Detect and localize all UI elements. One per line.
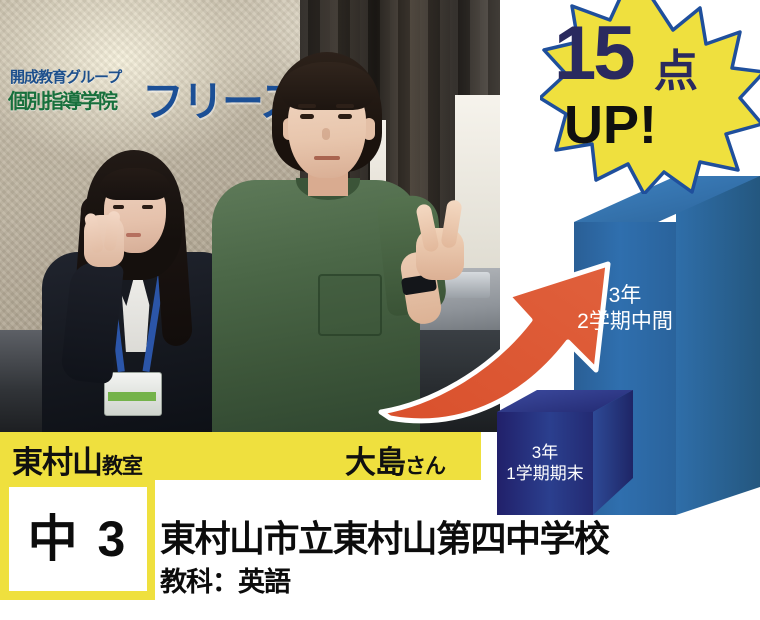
bar-label-term1: 3年 1学期期末 [497,443,593,484]
student-name: 大島 [345,445,405,480]
staff-id-badge-stripe [108,392,156,401]
bar-label-term2: 3年 2学期中間 [574,283,676,334]
student-nose [322,128,330,140]
classroom-label: 東村山教室 [12,437,142,482]
student-eyebrow-right [336,104,354,108]
score-up-badge [540,0,760,194]
signboard-group-name: 開成教育グループ [10,66,121,87]
grade-value: 中 3 [28,514,129,564]
subject-name: 教科：英語 [160,560,290,599]
school-signboard: 開成教育グループ 個別指導学院 フリーステップ [8,66,308,124]
classroom-suffix: 教室 [102,455,142,478]
student-photo: 開成教育グループ 個別指導学院 フリーステップ [0,0,500,432]
grade-badge: 中 3 [9,487,147,591]
promo-card: 開成教育グループ 個別指導学院 フリーステップ [0,0,760,620]
student-eyebrow-left [298,104,316,108]
staff-eye-right [142,205,153,209]
classroom-name: 東村山 [12,445,102,480]
student-tshirt-pocket [318,274,382,336]
student-eye-right [338,114,352,119]
student-eye-left [300,114,314,119]
staff-eye-left [113,205,124,209]
student-mouth [314,156,340,160]
student-bangs [280,62,376,110]
student-label: 大島さん [345,437,445,482]
student-name-suffix: さん [405,455,445,478]
staff-mouth [126,233,141,237]
staff-bangs [100,168,170,200]
school-name: 東村山市立東村山第四中学校 [160,510,609,562]
signboard-school-type: 個別指導学院 [8,85,116,114]
bar-term2-midterm [574,176,760,515]
